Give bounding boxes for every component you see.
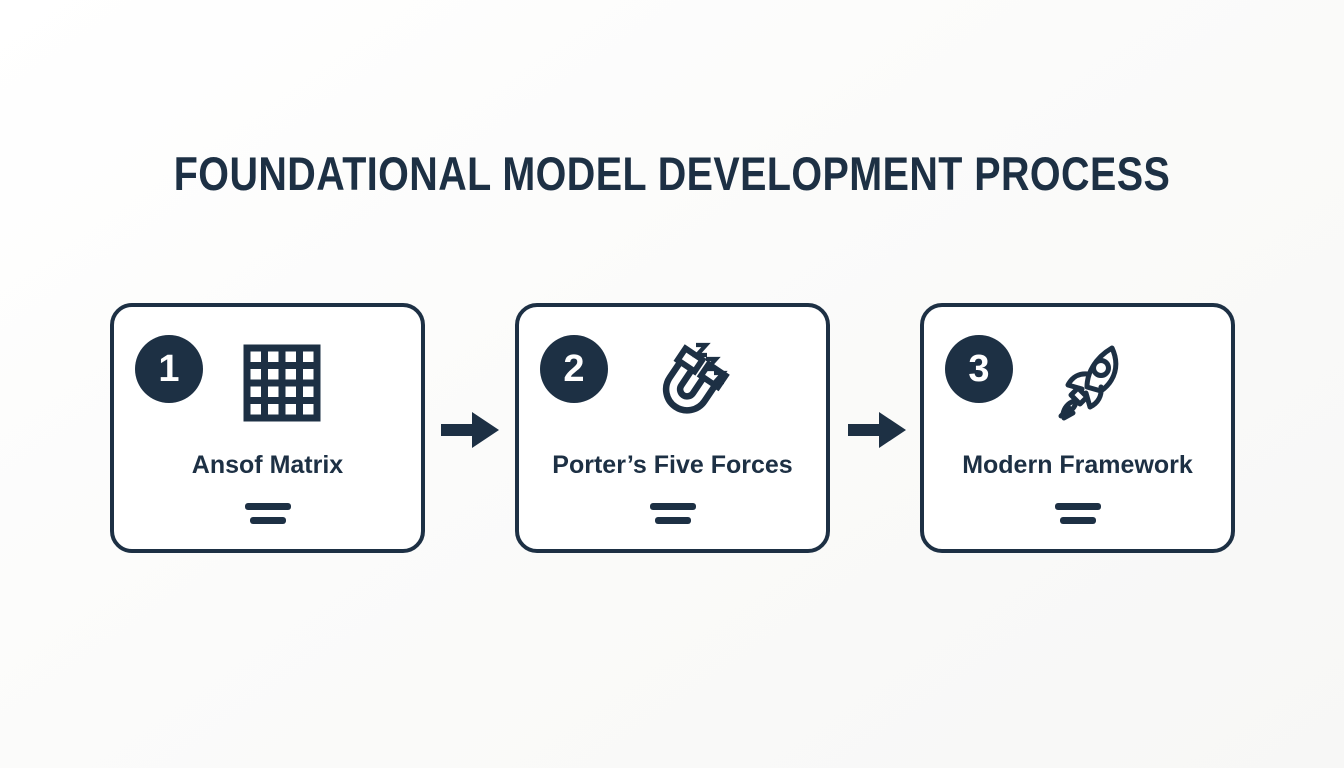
step-label: Porter’s Five Forces — [519, 449, 826, 481]
step-divider-bars — [114, 503, 421, 524]
step-card-3[interactable]: 3 — [920, 303, 1235, 553]
step-label: Ansof Matrix — [114, 449, 421, 481]
step-label: Modern Framework — [924, 449, 1231, 481]
step-number-badge: 1 — [135, 335, 203, 403]
divider-bar-bottom — [655, 517, 691, 524]
grid-icon — [239, 339, 325, 425]
step-card-1[interactable]: 1 Ansof Matrix — [110, 303, 425, 553]
rocket-icon — [1049, 339, 1135, 425]
divider-bar-top — [245, 503, 291, 510]
divider-bar-bottom — [250, 517, 286, 524]
divider-bar-bottom — [1060, 517, 1096, 524]
step-card-2[interactable]: 2 — [515, 303, 830, 553]
step-number-badge: 2 — [540, 335, 608, 403]
step-divider-bars — [519, 503, 826, 524]
magnet-icon — [644, 339, 730, 425]
divider-bar-top — [1055, 503, 1101, 510]
divider-bar-top — [650, 503, 696, 510]
step-divider-bars — [924, 503, 1231, 524]
process-steps-row: 1 Ansof Matrix — [110, 303, 1235, 553]
arrow-right-icon — [848, 411, 906, 449]
slide-canvas: FOUNDATIONAL MODEL DEVELOPMENT PROCESS 1 — [0, 0, 1344, 768]
page-title: FOUNDATIONAL MODEL DEVELOPMENT PROCESS — [108, 146, 1237, 202]
arrow-right-icon — [441, 411, 499, 449]
step-number-badge: 3 — [945, 335, 1013, 403]
